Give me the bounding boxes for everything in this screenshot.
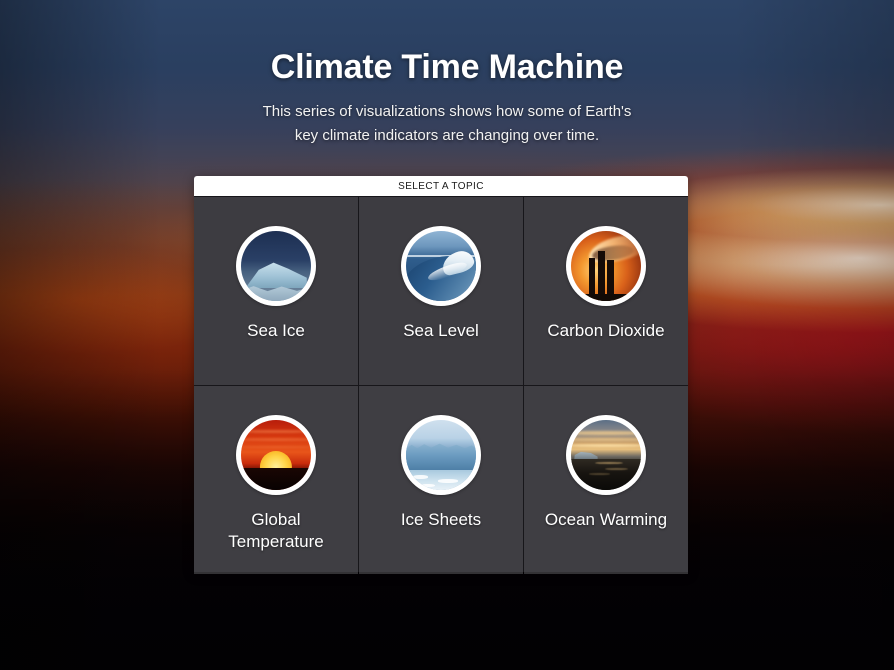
topic-tile-sea-ice[interactable]: Sea Ice <box>194 197 358 385</box>
topic-label-line-1: Ocean Warming <box>524 509 688 531</box>
topic-tile-ice-sheets[interactable]: Ice Sheets <box>359 386 523 574</box>
topic-label-line-1: Carbon Dioxide <box>524 320 688 342</box>
carbon-dioxide-thumbnail-ring <box>566 226 646 306</box>
climate-time-machine-page: Climate Time Machine This series of visu… <box>0 0 894 670</box>
ice-sheets-thumbnail-icon <box>406 420 476 490</box>
topic-label-line-1: Sea Level <box>359 320 523 342</box>
topic-tile-global-temperature[interactable]: Global Temperature <box>194 386 358 574</box>
topic-label-line-1: Ice Sheets <box>359 509 523 531</box>
topic-label-global-temperature: Global Temperature <box>194 509 358 553</box>
topic-label-carbon-dioxide: Carbon Dioxide <box>524 320 688 342</box>
topic-grid: Sea Ice Sea Level <box>194 196 688 572</box>
topic-tile-carbon-dioxide[interactable]: Carbon Dioxide <box>524 197 688 385</box>
global-temperature-thumbnail-ring <box>236 415 316 495</box>
topic-label-ocean-warming: Ocean Warming <box>524 509 688 531</box>
sea-level-thumbnail-icon <box>406 231 476 301</box>
panel-header-bar: SELECT A TOPIC <box>194 176 688 196</box>
topic-label-line-1: Sea Ice <box>194 320 358 342</box>
global-temperature-thumbnail-icon <box>241 420 311 490</box>
ice-sheets-thumbnail-ring <box>401 415 481 495</box>
topic-label-line-2: Temperature <box>194 531 358 553</box>
sea-ice-thumbnail-icon <box>241 231 311 301</box>
topic-label-sea-ice: Sea Ice <box>194 320 358 342</box>
page-subtitle-line-1: This series of visualizations shows how … <box>0 100 894 124</box>
sea-level-thumbnail-ring <box>401 226 481 306</box>
carbon-dioxide-thumbnail-icon <box>571 231 641 301</box>
topic-tile-ocean-warming[interactable]: Ocean Warming <box>524 386 688 574</box>
sea-ice-thumbnail-ring <box>236 226 316 306</box>
ocean-warming-thumbnail-ring <box>566 415 646 495</box>
panel-header-label: SELECT A TOPIC <box>398 181 484 192</box>
ocean-warming-thumbnail-icon <box>571 420 641 490</box>
topic-label-line-1: Global <box>194 509 358 531</box>
page-title: Climate Time Machine <box>0 48 894 87</box>
page-subtitle-line-2: key climate indicators are changing over… <box>0 124 894 148</box>
topic-label-ice-sheets: Ice Sheets <box>359 509 523 531</box>
topic-tile-sea-level[interactable]: Sea Level <box>359 197 523 385</box>
page-subtitle: This series of visualizations shows how … <box>0 100 894 148</box>
topic-selector-panel: SELECT A TOPIC Sea Ice <box>194 176 688 572</box>
topic-label-sea-level: Sea Level <box>359 320 523 342</box>
